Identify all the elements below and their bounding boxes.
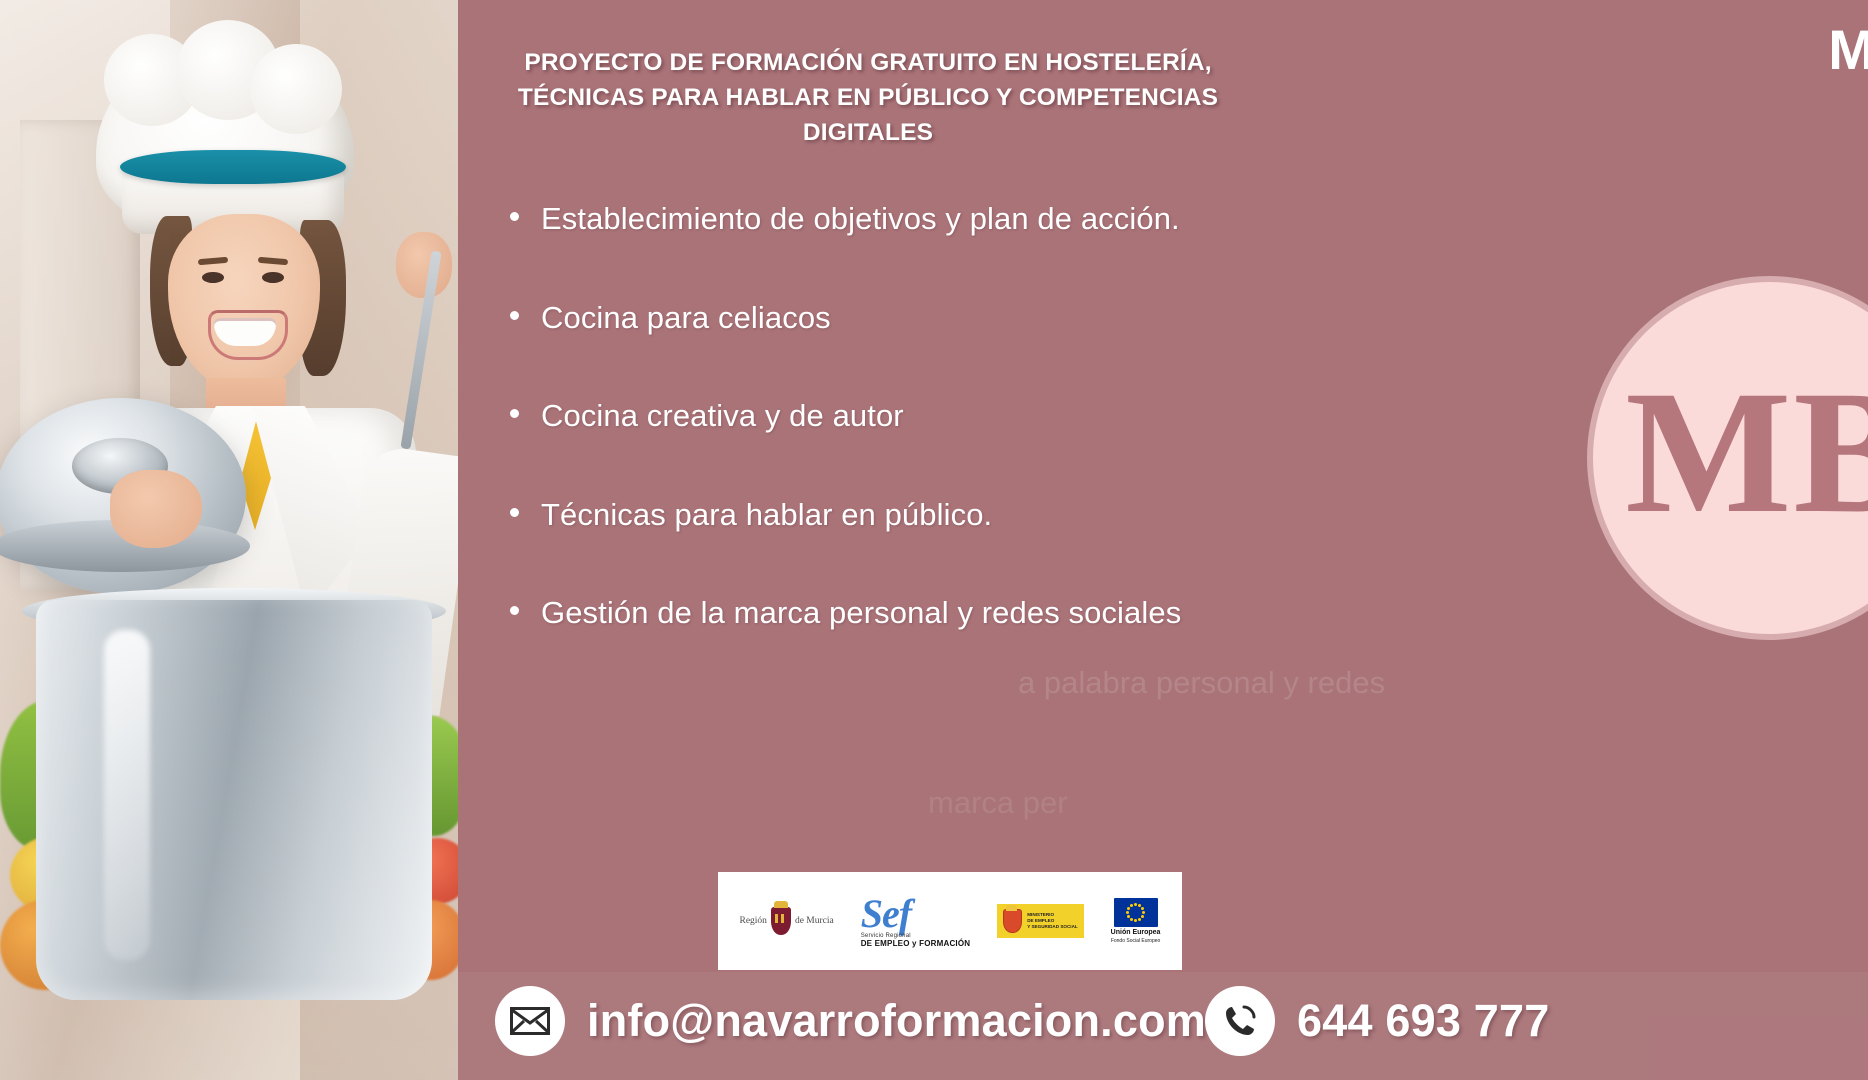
contact-phone-text: 644 693 777: [1297, 995, 1549, 1047]
eu-star-icon: [1142, 911, 1145, 914]
eu-title: Unión Europea: [1111, 929, 1161, 936]
eu-star-icon: [1126, 911, 1129, 914]
logo-union-europea: Unión Europea Fondo Social Europeo: [1111, 898, 1161, 944]
sef-subtitle-2: DE EMPLEO y FORMACIÓN: [861, 939, 971, 948]
logo-region-de-murcia: Región de Murcia: [739, 907, 833, 935]
list-item: Cocina para celiacos: [510, 295, 1250, 342]
eu-flag-icon: [1114, 898, 1158, 927]
list-item-label: Gestión de la marca personal y redes soc…: [541, 590, 1181, 637]
content-panel: PROYECTO DE FORMACIÓN GRATUITO EN HOSTEL…: [458, 0, 1868, 1080]
murcia-crest-icon: [771, 907, 791, 935]
ghost-text-artifact: marca per: [928, 780, 1628, 827]
eu-star-icon: [1138, 918, 1141, 921]
sef-wordmark: Sef: [861, 895, 911, 933]
page-title: PROYECTO DE FORMACIÓN GRATUITO EN HOSTEL…: [468, 46, 1268, 150]
photo-overlay: [0, 0, 458, 1080]
list-item: Gestión de la marca personal y redes soc…: [510, 590, 1250, 637]
list-item-label: Cocina para celiacos: [541, 295, 831, 342]
logo-ministerio: MINISTERIO DE EMPLEO Y SEGURIDAD SOCIAL: [997, 904, 1083, 938]
eu-star-icon: [1141, 907, 1144, 910]
eu-star-icon: [1130, 904, 1133, 907]
list-item-label: Técnicas para hablar en público.: [541, 492, 992, 539]
chef-photo: [0, 0, 458, 1080]
list-item-label: Cocina creativa y de autor: [541, 393, 904, 440]
murcia-word-2: de Murcia: [795, 916, 834, 926]
banner-root: PROYECTO DE FORMACIÓN GRATUITO EN HOSTEL…: [0, 0, 1868, 1080]
list-item: Cocina creativa y de autor: [510, 393, 1250, 440]
contact-email[interactable]: info@navarroformacion.com: [495, 986, 1206, 1056]
ministerio-line-2: DE EMPLEO: [1027, 918, 1054, 923]
eu-star-icon: [1130, 918, 1133, 921]
contact-phone[interactable]: 644 693 777: [1205, 986, 1549, 1056]
sponsor-logo-strip: Región de Murcia Sef Servicio Regional D…: [718, 872, 1182, 970]
bullet-dot-icon: [510, 409, 519, 418]
list-item: Establecimiento de objetivos y plan de a…: [510, 196, 1250, 243]
course-list: Establecimiento de objetivos y plan de a…: [510, 196, 1250, 689]
ministerio-text: MINISTERIO DE EMPLEO Y SEGURIDAD SOCIAL: [1027, 912, 1077, 931]
enrollment-badge: MATRÍCULA ABIERTA: [1688, 20, 1868, 141]
bullet-dot-icon: [510, 311, 519, 320]
eu-star-icon: [1127, 907, 1130, 910]
eu-star-icon: [1141, 915, 1144, 918]
eu-star-icon: [1134, 903, 1137, 906]
list-item: Técnicas para hablar en público.: [510, 492, 1250, 539]
enrollment-line-1: MATRÍCULA: [1688, 20, 1868, 80]
list-item-label: Establecimiento de objetivos y plan de a…: [541, 196, 1180, 243]
logo-sef: Sef Servicio Regional DE EMPLEO y FORMAC…: [861, 895, 971, 948]
contact-bar: info@navarroformacion.com 644 693 777: [0, 972, 1868, 1080]
bullet-dot-icon: [510, 508, 519, 517]
eu-star-icon: [1134, 919, 1137, 922]
murcia-word-1: Región: [739, 916, 766, 926]
contact-email-text: info@navarroformacion.com: [587, 995, 1206, 1047]
ministerio-line-3: Y SEGURIDAD SOCIAL: [1027, 924, 1077, 929]
enrollment-line-2: ABIERTA: [1688, 80, 1868, 140]
brand-logo: MB: [1593, 282, 1868, 634]
eu-subtitle: Fondo Social Europeo: [1111, 938, 1160, 944]
brand-logo-initials: MB: [1593, 282, 1868, 634]
phone-icon: [1205, 986, 1275, 1056]
envelope-icon: [495, 986, 565, 1056]
bullet-dot-icon: [510, 212, 519, 221]
bullet-dot-icon: [510, 606, 519, 615]
ministerio-crest-icon: [1003, 909, 1022, 933]
ministerio-line-1: MINISTERIO: [1027, 912, 1054, 917]
